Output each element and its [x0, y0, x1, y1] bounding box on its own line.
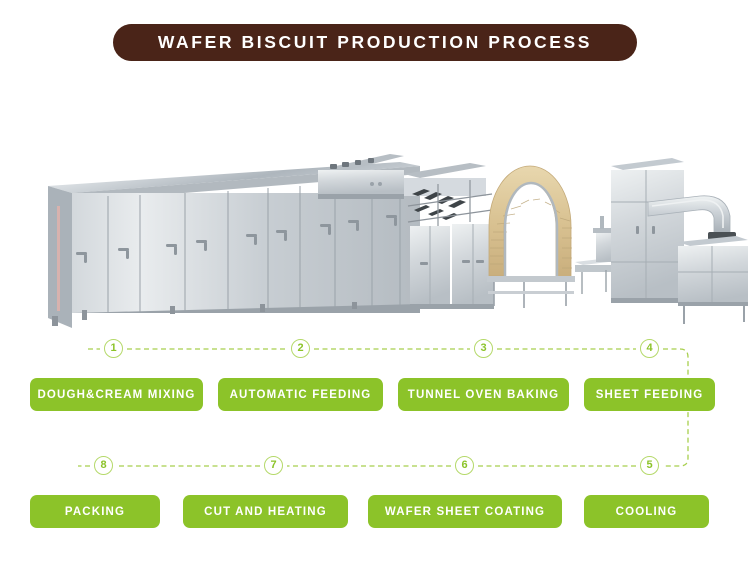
step-button-dough-cream-mixing[interactable]: DOUGH&CREAM MIXING [30, 378, 203, 411]
step-marker-4: 4 [640, 339, 659, 358]
step-label: SHEET FEEDING [596, 389, 704, 401]
step-button-wafer-sheet-coating[interactable]: WAFER SHEET COATING [368, 495, 562, 528]
step-number: 6 [461, 460, 467, 471]
process-infographic-page: WAFER BISCUIT PRODUCTION PROCESS [0, 0, 750, 576]
step-button-cooling[interactable]: COOLING [584, 495, 709, 528]
step-marker-7: 7 [264, 456, 283, 475]
page-title-banner: WAFER BISCUIT PRODUCTION PROCESS [113, 24, 637, 61]
step-label: COOLING [616, 506, 678, 518]
step-label: TUNNEL OVEN BAKING [408, 389, 559, 401]
step-button-packing[interactable]: PACKING [30, 495, 160, 528]
step-marker-6: 6 [455, 456, 474, 475]
step-button-sheet-feeding[interactable]: SHEET FEEDING [584, 378, 715, 411]
step-label: PACKING [65, 506, 125, 518]
step-marker-3: 3 [474, 339, 493, 358]
step-number: 2 [297, 343, 303, 354]
step-button-tunnel-oven-baking[interactable]: TUNNEL OVEN BAKING [398, 378, 569, 411]
step-number: 7 [270, 460, 276, 471]
step-number: 1 [110, 343, 116, 354]
step-label: AUTOMATIC FEEDING [230, 389, 372, 401]
step-marker-5: 5 [640, 456, 659, 475]
step-button-cut-and-heating[interactable]: CUT AND HEATING [183, 495, 348, 528]
production-line-photo [0, 66, 750, 328]
step-marker-2: 2 [291, 339, 310, 358]
step-label: WAFER SHEET COATING [385, 506, 545, 518]
step-marker-8: 8 [94, 456, 113, 475]
step-button-automatic-feeding[interactable]: AUTOMATIC FEEDING [218, 378, 383, 411]
step-number: 5 [646, 460, 652, 471]
step-number: 8 [100, 460, 106, 471]
step-number: 3 [480, 343, 486, 354]
page-title: WAFER BISCUIT PRODUCTION PROCESS [158, 32, 592, 53]
process-flow-diagram: 1 2 3 4 DOUGH&CREAM MIXING AUTOMATIC FEE… [0, 330, 750, 546]
step-number: 4 [646, 343, 652, 354]
step-label: DOUGH&CREAM MIXING [37, 389, 195, 401]
step-label: CUT AND HEATING [204, 506, 327, 518]
step-marker-1: 1 [104, 339, 123, 358]
